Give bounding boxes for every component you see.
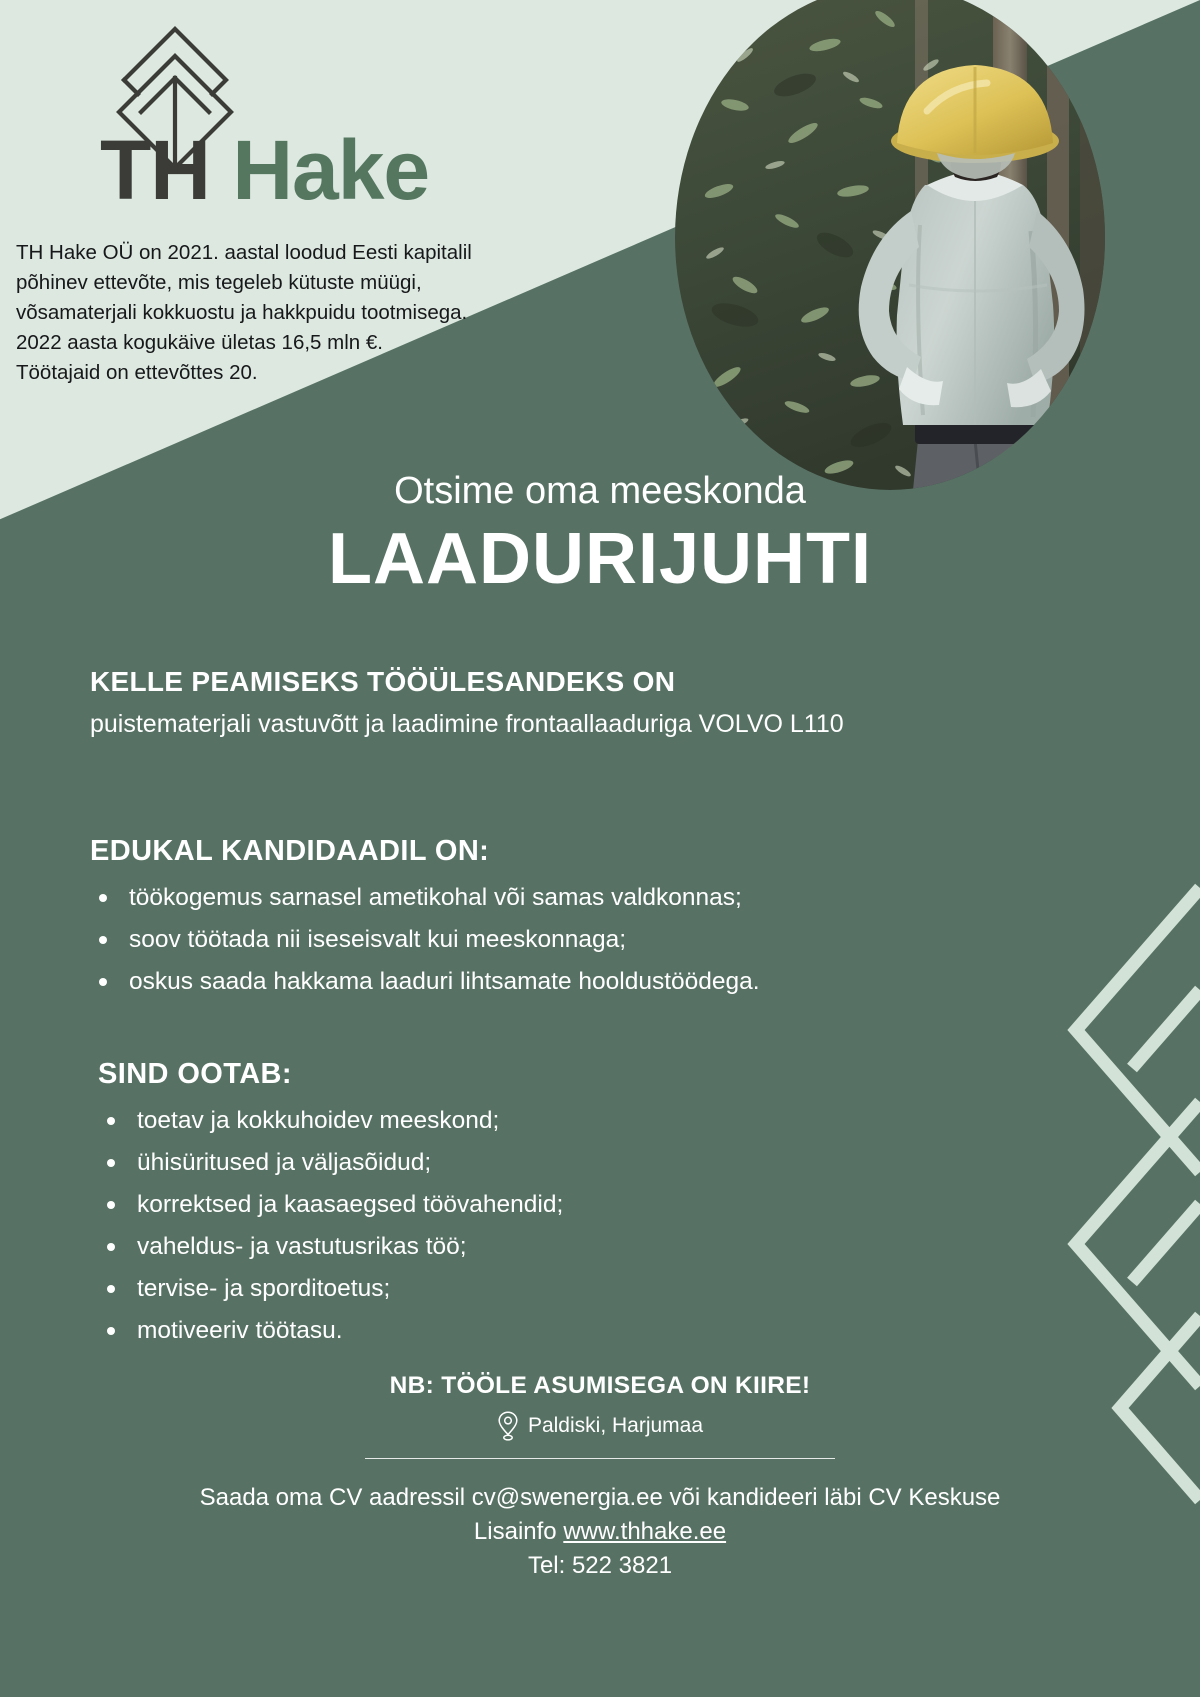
list-item: korrektsed ja kaasaegsed töövahendid; [98,1191,563,1220]
intro-line: TH Hake OÜ on 2021. aastal loodud Eesti … [16,238,656,268]
list-item: soov töötada nii iseseisvalt kui meeskon… [90,926,760,955]
contact-apply-line: Saada oma CV aadressil cv@swenergia.ee v… [0,1482,1200,1514]
th-hake-leaf-diamond-logo-icon [100,14,250,174]
list-item-label: toetav ja kokkuhoidev meeskond; [137,1107,499,1134]
contact-info-prefix: Lisainfo [474,1518,563,1545]
contact-block: Saada oma CV aadressil cv@swenergia.ee v… [0,1482,1200,1582]
candidate-requirements-section: EDUKAL KANDIDAADIL ON: töökogemus sarnas… [90,835,760,1010]
list-item: motiveeriv töötasu. [98,1317,563,1346]
list-item-label: töökogemus sarnasel ametikohal või samas… [129,884,742,911]
footer-divider [365,1458,835,1459]
list-item-label: ühisüritused ja väljasõidud; [137,1149,431,1176]
logo-word-hake: Hake [232,123,429,217]
map-pin-icon [497,1411,519,1441]
list-item: tervise- ja sporditoetus; [98,1275,563,1304]
we-offer-list: toetav ja kokkuhoidev meeskond; ühisürit… [98,1107,563,1345]
intro-line: põhinev ettevõte, mis tegeleb kütuste mü… [16,268,656,298]
candidate-requirements-heading: EDUKAL KANDIDAADIL ON: [90,835,760,868]
bullet-icon [107,1159,115,1167]
main-duties-heading: KELLE PEAMISEKS TÖÖÜLESANDEKS ON [90,666,844,698]
company-intro-paragraph: TH Hake OÜ on 2021. aastal loodud Eesti … [16,238,656,388]
intro-line: võsamaterjali kokkuostu ja hakkpuidu too… [16,298,656,328]
candidate-requirements-list: töökogemus sarnasel ametikohal või samas… [90,884,760,997]
list-item-label: korrektsed ja kaasaegsed töövahendid; [137,1191,563,1218]
job-advert-poster: TH Hake TH Hake OÜ on 2021. aastal loodu… [0,0,1200,1697]
bullet-icon [107,1117,115,1125]
list-item-label: vaheldus- ja vastutusrikas töö; [137,1233,467,1260]
list-item: töökogemus sarnasel ametikohal või samas… [90,884,760,913]
we-offer-heading: SIND OOTAB: [98,1058,563,1091]
company-website-link[interactable]: www.thhake.ee [563,1518,726,1545]
forest-worker-photo [675,0,1105,490]
list-item: vaheldus- ja vastutusrikas töö; [98,1233,563,1262]
list-item: toetav ja kokkuhoidev meeskond; [98,1107,563,1136]
job-title-headline: LAADURIJUHTI [0,518,1200,600]
list-item: ühisüritused ja väljasõidud; [98,1149,563,1178]
intro-line: 2022 aasta kogukäive ületas 16,5 mln €. [16,328,656,358]
bullet-icon [99,894,107,902]
contact-phone-line: Tel: 522 3821 [0,1550,1200,1582]
we-offer-section: SIND OOTAB: toetav ja kokkuhoidev meesko… [98,1058,563,1358]
bullet-icon [99,936,107,944]
bullet-icon [107,1327,115,1335]
headline-eyebrow: Otsime oma meeskonda [0,470,1200,513]
list-item-label: oskus saada hakkama laaduri lihtsamate h… [129,968,760,995]
intro-line: Töötajaid on ettevõttes 20. [16,358,656,388]
location-label: Paldiski, Harjumaa [528,1414,703,1438]
urgency-note: NB: TÖÖLE ASUMISEGA ON KIIRE! [0,1372,1200,1400]
location-row: Paldiski, Harjumaa [0,1411,1200,1441]
list-item-label: tervise- ja sporditoetus; [137,1275,390,1302]
bullet-icon [107,1285,115,1293]
bullet-icon [107,1243,115,1251]
main-duties-section: KELLE PEAMISEKS TÖÖÜLESANDEKS ON puistem… [90,666,844,739]
bullet-icon [99,978,107,986]
main-duties-text: puistematerjali vastuvõtt ja laadimine f… [90,710,844,739]
bullet-icon [107,1201,115,1209]
list-item: oskus saada hakkama laaduri lihtsamate h… [90,968,760,997]
list-item-label: soov töötada nii iseseisvalt kui meeskon… [129,926,626,953]
forest-worker-illustration [675,0,1105,490]
list-item-label: motiveeriv töötasu. [137,1317,343,1344]
contact-info-line: Lisainfo www.thhake.ee [0,1516,1200,1548]
